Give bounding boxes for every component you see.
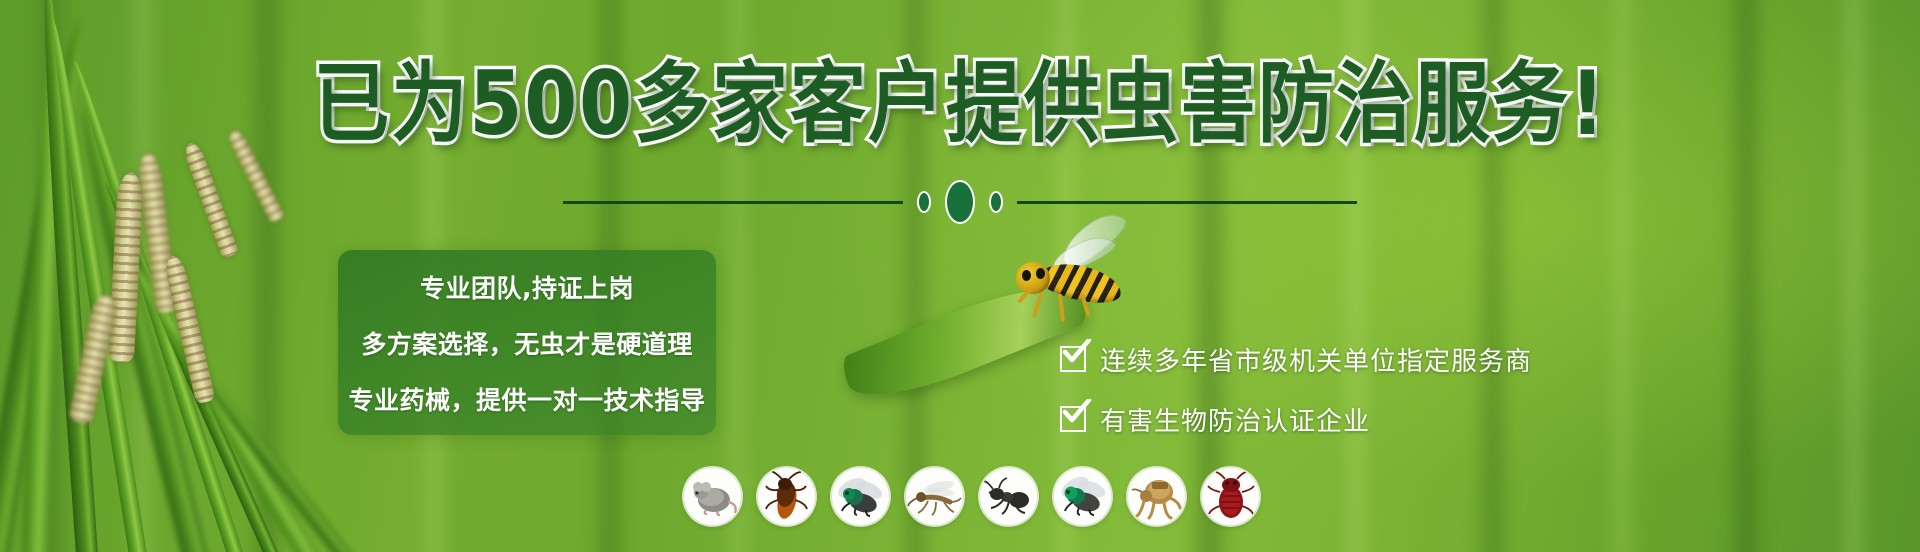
mosquito-icon[interactable]: [906, 468, 963, 525]
claim-line-1: 专业团队,持证上岗: [420, 269, 634, 305]
divider-dot-small-left: [917, 191, 931, 213]
checkbox-checked-icon: [1060, 346, 1086, 372]
bedbug-icon[interactable]: [1202, 468, 1259, 525]
page-title: 已为500多家客户提供虫害防治服务!: [0, 60, 1920, 148]
checklist-item-label: 连续多年省市级机关单位指定服务商: [1100, 341, 1532, 378]
divider: [0, 182, 1920, 222]
divider-rule-left: [563, 201, 903, 204]
wasp-illustration: [1010, 240, 1140, 320]
divider-dot-large: [945, 180, 975, 224]
divider-dot-small-right: [989, 191, 1003, 213]
claim-line-2: 多方案选择，无虫才是硬道理: [361, 325, 693, 361]
flea-icon[interactable]: [1128, 468, 1185, 525]
checkbox-checked-icon: [1060, 406, 1086, 432]
divider-rule-right: [1017, 201, 1357, 204]
housefly-icon[interactable]: [832, 468, 889, 525]
promo-banner: 已为500多家客户提供虫害防治服务! 专业团队,持证上岗 多方案选择，无虫才是硬…: [0, 0, 1920, 552]
checklist-item-label: 有害生物防治认证企业: [1100, 401, 1370, 438]
checklist-item: 连续多年省市级机关单位指定服务商: [1060, 330, 1532, 388]
checklist-item: 有害生物防治认证企业: [1060, 390, 1532, 448]
blowfly-icon[interactable]: [1054, 468, 1111, 525]
claims-panel: 专业团队,持证上岗 多方案选择，无虫才是硬道理 专业药械，提供一对一技术指导: [338, 250, 716, 435]
claim-line-3: 专业药械，提供一对一技术指导: [348, 381, 705, 417]
ant-icon[interactable]: [980, 468, 1037, 525]
pest-icon-row: [684, 468, 1259, 525]
checklist: 连续多年省市级机关单位指定服务商 有害生物防治认证企业: [1060, 330, 1532, 448]
headline-text: 已为500多家客户提供虫害防治服务!: [313, 52, 1606, 155]
cockroach-icon[interactable]: [758, 468, 815, 525]
mouse-icon[interactable]: [684, 468, 741, 525]
